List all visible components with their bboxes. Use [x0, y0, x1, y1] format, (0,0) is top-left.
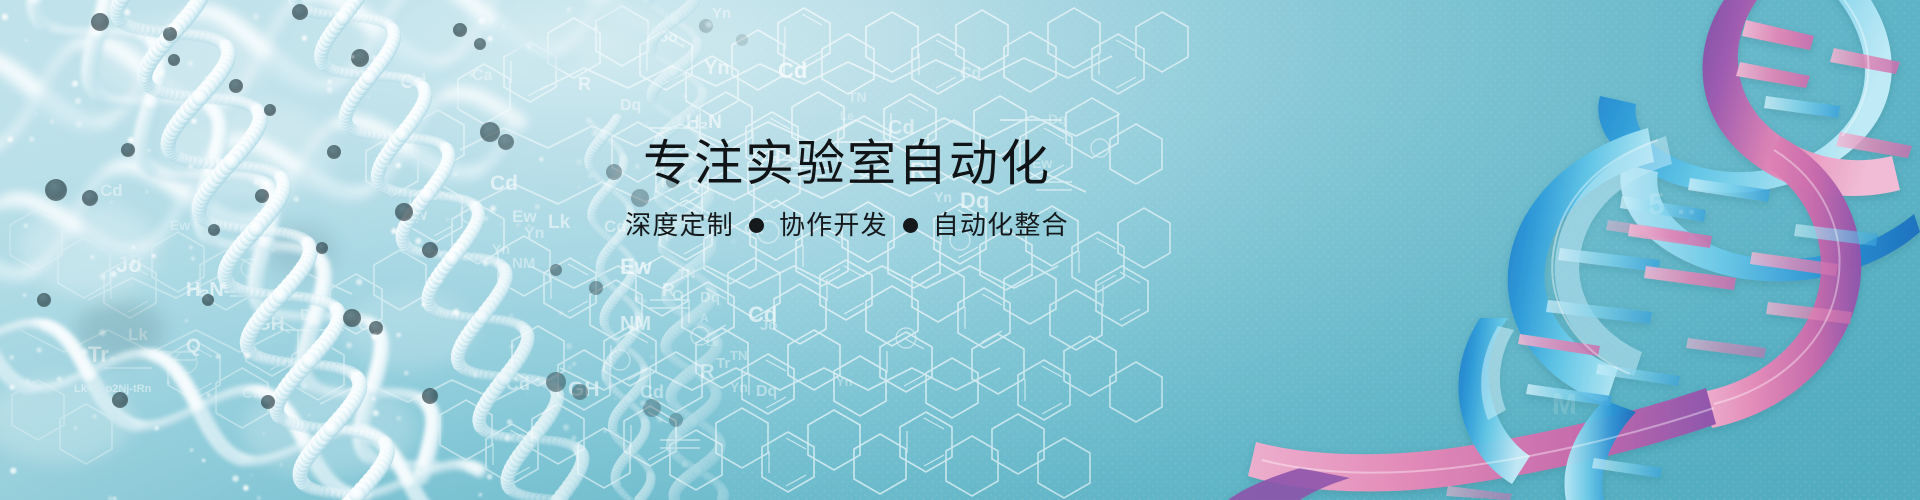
watermark-left: 5 ..: [1648, 188, 1698, 222]
ribbon-dna-helix: [0, 0, 1920, 500]
page-title: 专注实验室自动化: [612, 140, 1082, 190]
helix-ribbons: [1228, 0, 1920, 500]
banner-copy-block: 专注实验室自动化 深度定制 协作开发 自动化整合: [612, 140, 1082, 240]
subtitle-segment-2: 协作开发: [779, 211, 888, 240]
banner-subtitle: 深度定制 协作开发 自动化整合: [612, 211, 1082, 240]
hero-banner: CdJoYnYnH₂NRCaDqCdOHCdQEwRDqYnEwLkCdCaEw…: [0, 0, 1920, 500]
subtitle-segment-1: 深度定制: [625, 211, 734, 240]
bullet-dot-icon: [903, 218, 918, 233]
bullet-dot-icon: [749, 218, 764, 233]
subtitle-segment-3: 自动化整合: [933, 211, 1069, 240]
watermark-right: M: [1552, 388, 1579, 422]
